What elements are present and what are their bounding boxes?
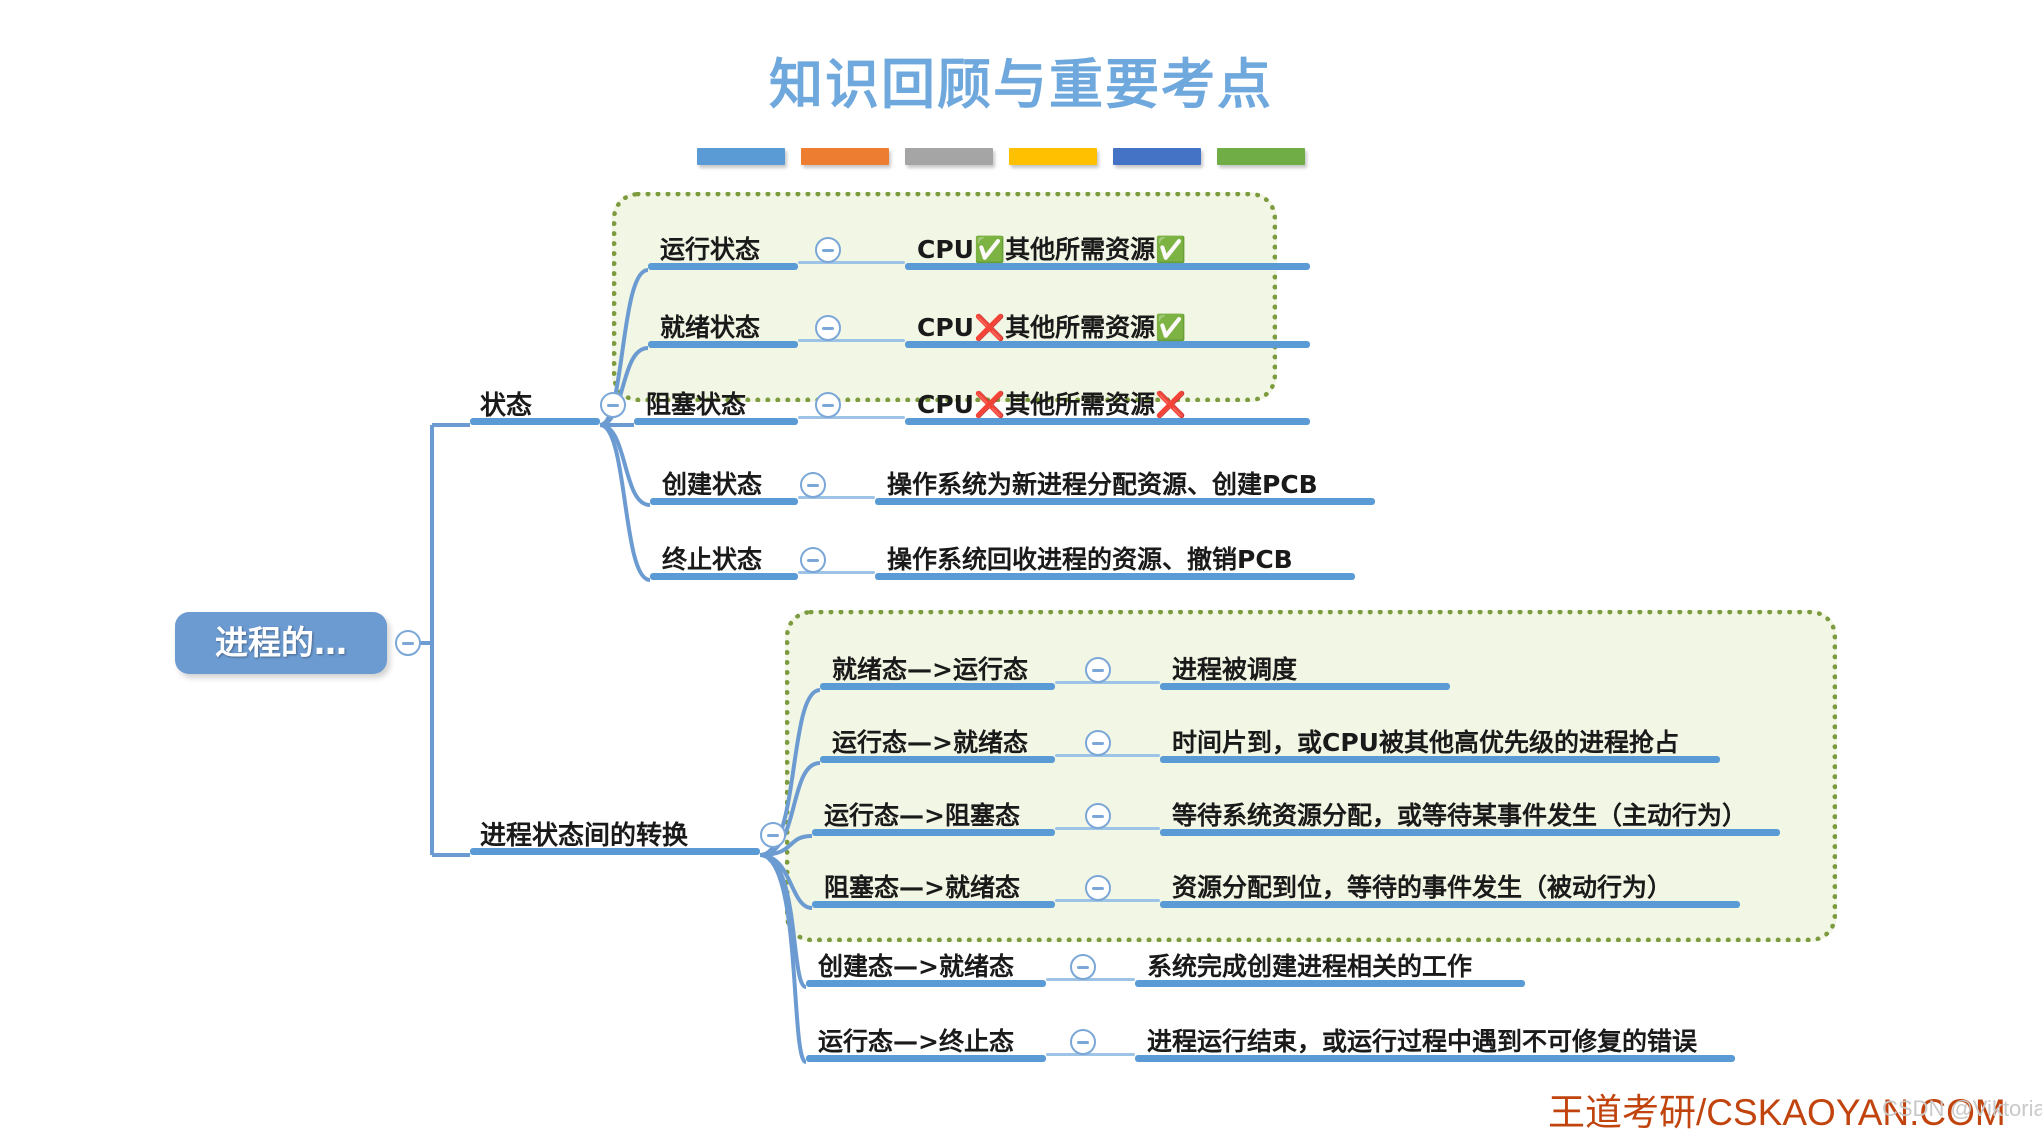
content-text: 其他所需资源 [1005, 235, 1155, 264]
check-icon: ✅ [1155, 313, 1186, 342]
leaf-collapse-b0-2[interactable] [815, 392, 841, 418]
leaf-connector-line-b1-5 [1046, 1053, 1135, 1056]
leaf-connector-line-b1-4 [1046, 978, 1135, 981]
root-collapse-toggle[interactable] [395, 630, 421, 656]
leaf-collapse-b0-3[interactable] [800, 472, 826, 498]
leaf-content-b1-4: 系统完成创建进程相关的工作 [1147, 947, 1472, 983]
root-node[interactable]: 进程的… [175, 612, 387, 674]
leaf-connector-line-b1-1 [1055, 754, 1160, 757]
bar-orange [801, 148, 889, 165]
leaf-label-b0-1: 就绪状态 [660, 308, 760, 344]
check-icon: ✅ [1155, 235, 1186, 264]
leaf-content-b0-4: 操作系统回收进程的资源、撤销PCB [887, 540, 1293, 576]
leaf-content-b0-2: CPU❌其他所需资源❌ [917, 385, 1186, 421]
leaf-connector-line-b1-3 [1055, 899, 1160, 902]
leaf-content-b0-3: 操作系统为新进程分配资源、创建PCB [887, 465, 1318, 501]
leaf-connector-line-b0-2 [798, 416, 905, 419]
check-icon: ✅ [974, 235, 1005, 264]
mindmap-canvas: 知识回顾与重要考点 [0, 0, 2042, 1140]
leaf-content-b1-2: 等待系统资源分配，或等待某事件发生（主动行为） [1172, 796, 1747, 832]
content-text: CPU [917, 235, 974, 264]
branch-collapse-states[interactable] [600, 392, 626, 418]
leaf-label-b1-2: 运行态—>阻塞态 [824, 796, 1020, 832]
content-text: CPU [917, 390, 974, 419]
leaf-content-b0-0: CPU✅其他所需资源✅ [917, 230, 1186, 266]
content-text: 其他所需资源 [1005, 313, 1155, 342]
leaf-collapse-b1-3[interactable] [1085, 875, 1111, 901]
leaf-connector-line-b0-0 [798, 261, 905, 264]
leaf-label-b1-1: 运行态—>就绪态 [832, 723, 1028, 759]
bar-gray [905, 148, 993, 165]
leaf-label-b1-3: 阻塞态—>就绪态 [824, 868, 1020, 904]
leaf-collapse-b0-4[interactable] [800, 547, 826, 573]
leaf-connector-line-b1-0 [1055, 681, 1160, 684]
cross-icon: ❌ [1155, 390, 1186, 419]
leaf-collapse-b1-1[interactable] [1085, 730, 1111, 756]
cross-icon: ❌ [974, 390, 1005, 419]
leaf-content-b1-3: 资源分配到位，等待的事件发生（被动行为） [1172, 868, 1672, 904]
leaf-collapse-b0-1[interactable] [815, 315, 841, 341]
leaf-label-b0-4: 终止状态 [662, 540, 762, 576]
branch-label-states: 状态 [480, 385, 532, 422]
accent-bar-strip [697, 148, 1305, 165]
leaf-content-b1-5: 进程运行结束，或运行过程中遇到不可修复的错误 [1147, 1022, 1697, 1058]
leaf-collapse-b1-2[interactable] [1085, 803, 1111, 829]
leaf-label-b0-2: 阻塞状态 [646, 385, 746, 421]
leaf-label-b0-0: 运行状态 [660, 230, 760, 266]
leaf-content-b1-0: 进程被调度 [1172, 650, 1297, 686]
leaf-connector-line-b1-2 [1055, 827, 1160, 830]
leaf-collapse-b1-4[interactable] [1070, 954, 1096, 980]
branch-collapse-transitions[interactable] [760, 822, 786, 848]
leaf-collapse-b1-5[interactable] [1070, 1029, 1096, 1055]
leaf-label-b1-4: 创建态—>就绪态 [818, 947, 1014, 983]
leaf-collapse-b1-0[interactable] [1085, 657, 1111, 683]
leaf-label-b1-0: 就绪态—>运行态 [832, 650, 1028, 686]
leaf-content-b0-1: CPU❌其他所需资源✅ [917, 308, 1186, 344]
group-box-states [612, 192, 1277, 402]
bar-green [1217, 148, 1305, 165]
watermark-secondary: CSDN @Viktoriae [1882, 1096, 2042, 1122]
branch-label-transitions: 进程状态间的转换 [480, 815, 688, 852]
root-node-label: 进程的… [175, 612, 387, 674]
bar-yellow [1009, 148, 1097, 165]
bar-dark-blue [1113, 148, 1201, 165]
leaf-label-b1-5: 运行态—>终止态 [818, 1022, 1014, 1058]
bar-blue [697, 148, 785, 165]
leaf-label-b0-3: 创建状态 [662, 465, 762, 501]
leaf-connector-line-b0-1 [798, 339, 905, 342]
leaf-content-b1-1: 时间片到，或CPU被其他高优先级的进程抢占 [1172, 723, 1679, 759]
page-title: 知识回顾与重要考点 [0, 40, 2042, 119]
leaf-collapse-b0-0[interactable] [815, 237, 841, 263]
content-text: CPU [917, 313, 974, 342]
content-text: 其他所需资源 [1005, 390, 1155, 419]
cross-icon: ❌ [974, 313, 1005, 342]
